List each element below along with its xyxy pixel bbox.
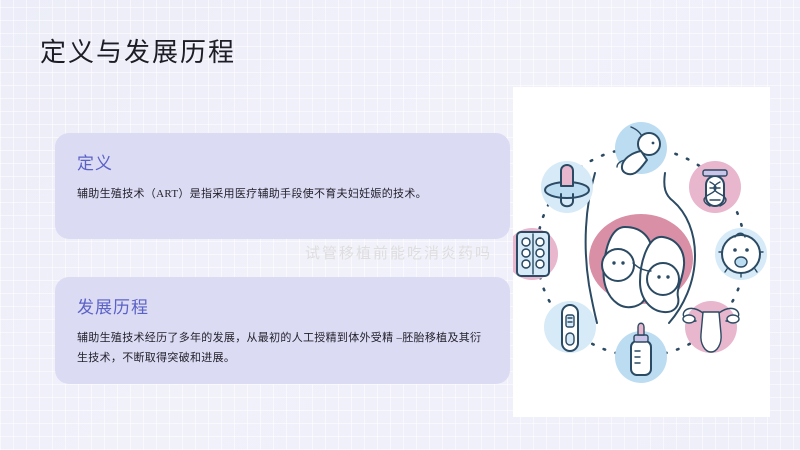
page-title: 定义与发展历程: [40, 32, 236, 69]
uterus-icon: [683, 301, 739, 353]
pill-blister-icon: [513, 228, 558, 280]
dna-test-tube-icon: [689, 161, 741, 213]
watermark-text: 试管移植前能吃消炎药吗: [305, 242, 492, 263]
baby-bottle-icon: [615, 323, 667, 383]
definition-card-heading: 定义: [77, 149, 488, 174]
baby-face-icon: [715, 228, 767, 280]
history-card-body: 辅助生殖技术经历了多年的发展，从最初的人工授精到体外受精 –胚胎移植及其衍生技术…: [77, 328, 488, 369]
definition-card-body: 辅助生殖技术（ART）是指采用医疗辅助手段使不育夫妇妊娠的技术。: [77, 184, 488, 204]
definition-card: 定义 辅助生殖技术（ART）是指采用医疗辅助手段使不育夫妇妊娠的技术。: [55, 133, 510, 239]
fertility-illustration: .ln{fill:none;stroke:#2b4a63;stroke-widt…: [513, 87, 770, 417]
fetus-icon: [615, 122, 667, 174]
illustration-panel: .ln{fill:none;stroke:#2b4a63;stroke-widt…: [513, 87, 770, 417]
history-card-heading: 发展历程: [77, 293, 488, 318]
history-card: 发展历程 辅助生殖技术经历了多年的发展，从最初的人工授精到体外受精 –胚胎移植及…: [55, 277, 510, 384]
pacifier-icon: [541, 161, 593, 213]
womb-with-twins: [589, 214, 693, 312]
pregnancy-test-icon: [544, 301, 596, 353]
slide-canvas: 定义与发展历程 定义 辅助生殖技术（ART）是指采用医疗辅助手段使不育夫妇妊娠的…: [0, 0, 800, 450]
